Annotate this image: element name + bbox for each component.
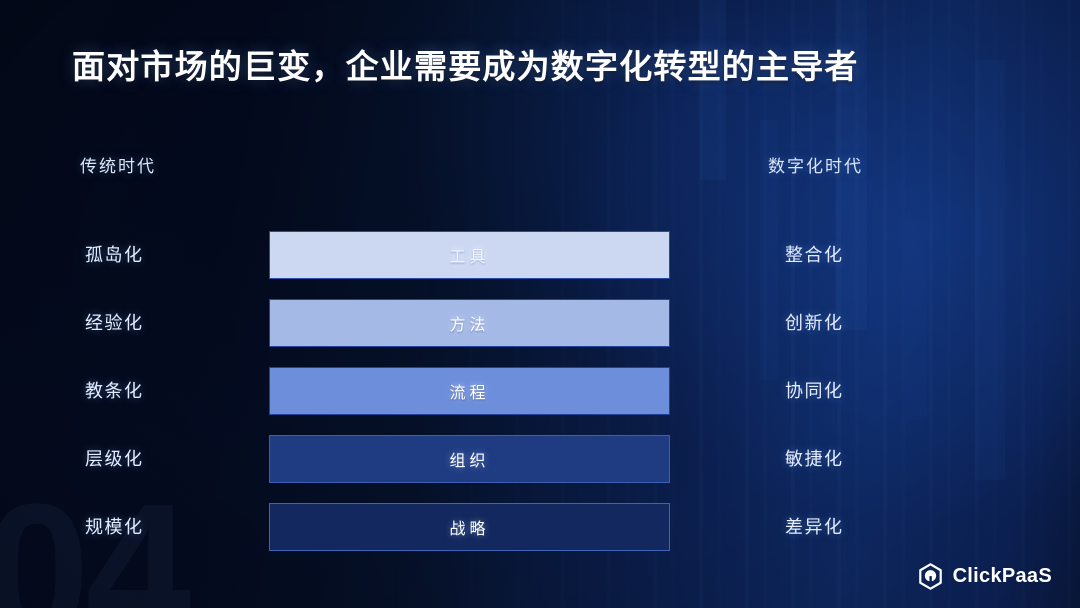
comparison-row: 教条化 流程 协同化	[0, 367, 1080, 415]
center-bar-organization[interactable]: 组织	[269, 435, 670, 483]
digital-label: 协同化	[785, 367, 844, 415]
column-header-digital: 数字化时代	[768, 152, 863, 177]
digital-label: 敏捷化	[785, 435, 844, 483]
page-title: 面对市场的巨变，企业需要成为数字化转型的主导者	[72, 40, 859, 88]
center-bar-label: 流程	[449, 379, 489, 403]
center-bar-tool[interactable]: 工具	[269, 231, 670, 279]
center-bar-process[interactable]: 流程	[269, 367, 670, 415]
center-bar-label: 工具	[449, 243, 489, 267]
comparison-row: 规模化 战略 差异化	[0, 503, 1080, 551]
comparison-row: 经验化 方法 创新化	[0, 299, 1080, 347]
traditional-label: 规模化	[85, 503, 144, 551]
traditional-label: 孤岛化	[85, 231, 144, 279]
column-header-traditional: 传统时代	[80, 152, 156, 177]
hexagon-logo-icon	[917, 563, 944, 590]
digital-label: 整合化	[785, 231, 844, 279]
clickpaas-logo: ClickPaaS	[917, 563, 1052, 590]
digital-label: 差异化	[785, 503, 844, 551]
center-bar-label: 战略	[449, 515, 489, 539]
comparison-row: 孤岛化 工具 整合化	[0, 231, 1080, 279]
comparison-rows: 孤岛化 工具 整合化 经验化 方法 创新化 教条化 流程 协同化 层级化 组织	[0, 231, 1080, 551]
traditional-label: 层级化	[85, 435, 144, 483]
digital-label: 创新化	[785, 299, 844, 347]
slide-canvas: 04 面对市场的巨变，企业需要成为数字化转型的主导者 传统时代 数字化时代 孤岛…	[0, 0, 1080, 608]
center-bar-label: 方法	[449, 311, 489, 335]
center-bar-method[interactable]: 方法	[269, 299, 670, 347]
center-bar-label: 组织	[449, 447, 489, 471]
traditional-label: 经验化	[85, 299, 144, 347]
traditional-label: 教条化	[85, 367, 144, 415]
logo-text: ClickPaaS	[953, 565, 1052, 588]
center-bar-strategy[interactable]: 战略	[269, 503, 670, 551]
comparison-row: 层级化 组织 敏捷化	[0, 435, 1080, 483]
